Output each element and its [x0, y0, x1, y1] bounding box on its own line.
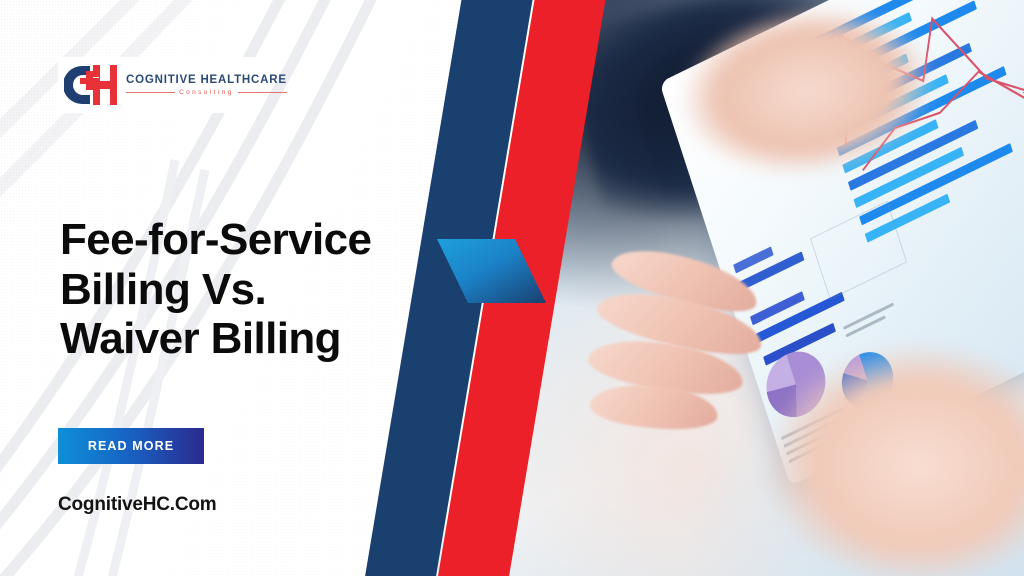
read-more-button[interactable]: READ MORE [58, 428, 204, 464]
logo-subtitle-row: Consulting [126, 89, 287, 96]
headline-line-1: Fee-for-Service [60, 215, 480, 264]
logo[interactable]: COGNITIVE HEALTHCARE Consulting [58, 57, 256, 113]
logo-rule-left [126, 92, 175, 93]
headline-line-2: Billing Vs. [60, 265, 480, 314]
headline-line-3: Waiver Billing [60, 314, 480, 363]
lower-hand [770, 330, 1024, 576]
site-url: CognitiveHC.Com [58, 494, 217, 516]
logo-title: COGNITIVE HEALTHCARE [126, 74, 287, 86]
logo-rule-right [238, 92, 287, 93]
page-title: Fee-for-Service Billing Vs. Waiver Billi… [60, 215, 480, 363]
logo-wordmark: COGNITIVE HEALTHCARE Consulting [126, 74, 287, 95]
logo-subtitle: Consulting [175, 89, 238, 96]
logo-mark-icon [64, 62, 120, 108]
promotional-banner: COGNITIVE HEALTHCARE Consulting Fee-for-… [0, 0, 1024, 576]
